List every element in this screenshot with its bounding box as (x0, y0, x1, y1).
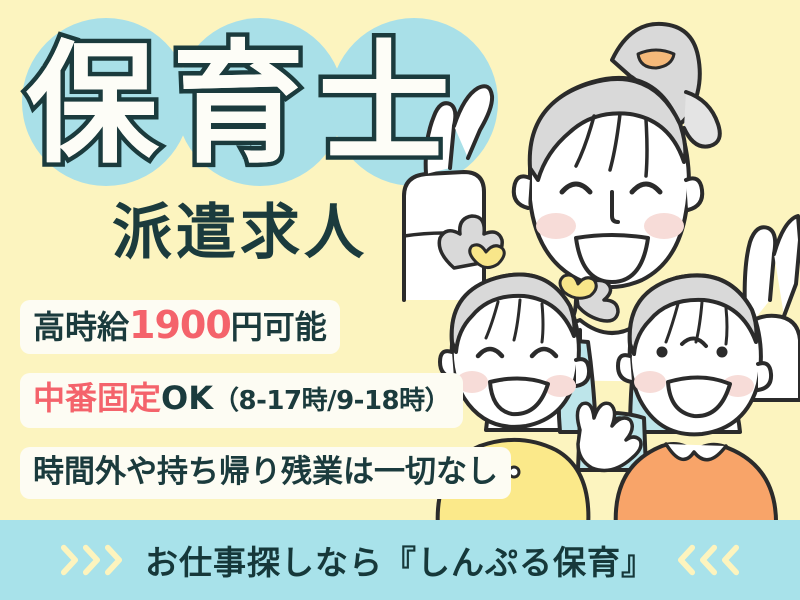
feature-badge-list: 高時給1900円可能 中番固定OK（8-17時/9-18時） 時間外や持ち帰り残… (20, 300, 440, 518)
badge-shift-hours: （8-17時/9-18時） (213, 386, 450, 416)
chevron-right-icon-group (60, 543, 123, 577)
badge-shift: 中番固定OK（8-17時/9-18時） (20, 373, 463, 428)
badge-shift-seg-0: 中番固定 (33, 379, 161, 417)
badge-wage-seg-2: 円可能 (231, 308, 327, 346)
badge-overtime-text: 時間外や持ち帰り残業は一切なし (33, 454, 498, 490)
boy-child (616, 275, 776, 528)
chevron-left-icon-group (677, 543, 740, 577)
chevron-left-icon (721, 543, 740, 577)
poster-root: 保育士 保育士 派遣求人 高時給1900円可能 中番固定OK（8-17時/9-1… (0, 0, 800, 600)
chevron-left-icon (677, 543, 696, 577)
banner-tagline: お仕事探しなら『しんぷる保育』 (145, 536, 655, 584)
chevron-right-icon (60, 543, 79, 577)
badge-wage-seg-0: 高時給 (33, 308, 129, 346)
page-title: 保育士 (26, 22, 496, 188)
badge-wage-amount: 1900 (129, 303, 231, 347)
bottom-banner: お仕事探しなら『しんぷる保育』 (0, 520, 800, 600)
chevron-right-icon (82, 543, 101, 577)
chevron-left-icon (699, 543, 718, 577)
chevron-right-icon (104, 543, 123, 577)
page-subtitle: 派遣求人 (112, 196, 368, 270)
badge-overtime: 時間外や持ち帰り残業は一切なし (20, 447, 511, 499)
badge-shift-seg-1: OK (161, 379, 213, 417)
badge-wage: 高時給1900円可能 (20, 300, 340, 354)
